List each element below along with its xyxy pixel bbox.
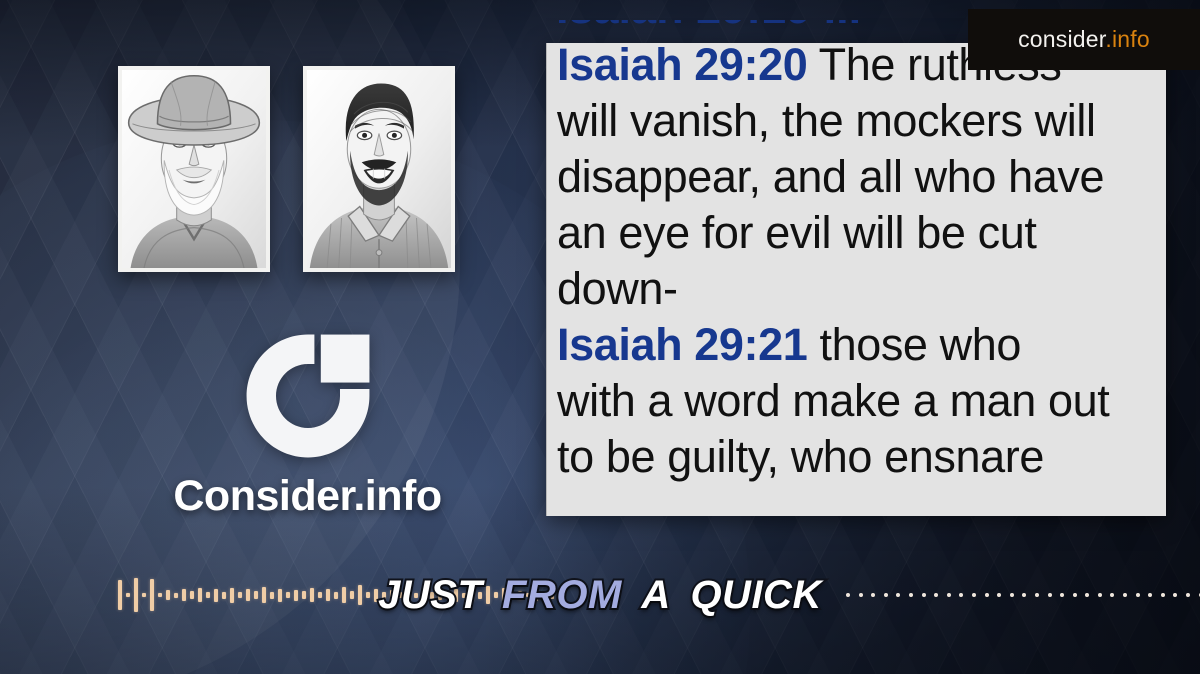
- verse-line: down-: [557, 261, 1156, 317]
- caption-word-highlighted: FROM: [500, 573, 624, 618]
- sketch-hat-man-icon: [122, 70, 266, 268]
- verse-body: to be guilty, who ensnare: [557, 431, 1044, 482]
- verse-body: with a word make a man out: [557, 375, 1109, 426]
- caption-word: QUICK: [688, 573, 823, 618]
- verse-line: with a word make a man out: [557, 373, 1156, 429]
- verse-line: will vanish, the mockers will: [557, 93, 1156, 149]
- portrait-group: [118, 66, 455, 272]
- portrait-bearded-man-with-hat: [118, 66, 270, 272]
- verse-body: an eye for evil will be cut: [557, 207, 1036, 258]
- caption-text: JUST FROM A QUICK: [0, 560, 1200, 630]
- verse-body: down-: [557, 263, 678, 314]
- watermark-badge: consider.info: [968, 9, 1200, 70]
- watermark-primary: consider: [1018, 26, 1105, 52]
- caption-space: [673, 573, 689, 618]
- portrait-young-man-with-beard: [303, 66, 455, 272]
- caption-word: JUST: [376, 573, 484, 618]
- verse-reference: Isaiah 29:20: [557, 43, 807, 90]
- verse-line: an eye for evil will be cut: [557, 205, 1156, 261]
- caption-word: A: [639, 573, 672, 618]
- scripture-text: Isaiah 29:20 The ruthless will vanish, t…: [547, 43, 1166, 485]
- verse-reference: Isaiah 29:21: [557, 319, 807, 370]
- sketch-young-man-icon: [307, 70, 451, 268]
- subtitle-strip: JUST FROM A QUICK: [0, 560, 1200, 630]
- verse-line: disappear, and all who have: [557, 149, 1156, 205]
- verse-body: will vanish, the mockers will: [557, 95, 1096, 146]
- verse-line: Isaiah 29:21 those who: [557, 317, 1156, 373]
- brand-logo-block: Consider.info: [130, 332, 485, 521]
- scripture-text-box: Isaiah 29:20 The ruthless will vanish, t…: [546, 43, 1166, 516]
- watermark-accent: .info: [1105, 26, 1149, 52]
- brand-logo-text: Consider.info: [130, 472, 485, 521]
- consider-c-logo-icon: [244, 332, 372, 460]
- verse-body: disappear, and all who have: [557, 151, 1104, 202]
- video-frame: Consider.info Isaiah 29:19 ... Isaiah 29…: [0, 0, 1200, 674]
- verse-body: those who: [807, 319, 1021, 370]
- caption-space: [624, 573, 640, 618]
- verse-line: to be guilty, who ensnare: [557, 429, 1156, 485]
- watermark-text: consider.info: [1018, 26, 1150, 53]
- caption-space: [484, 573, 500, 618]
